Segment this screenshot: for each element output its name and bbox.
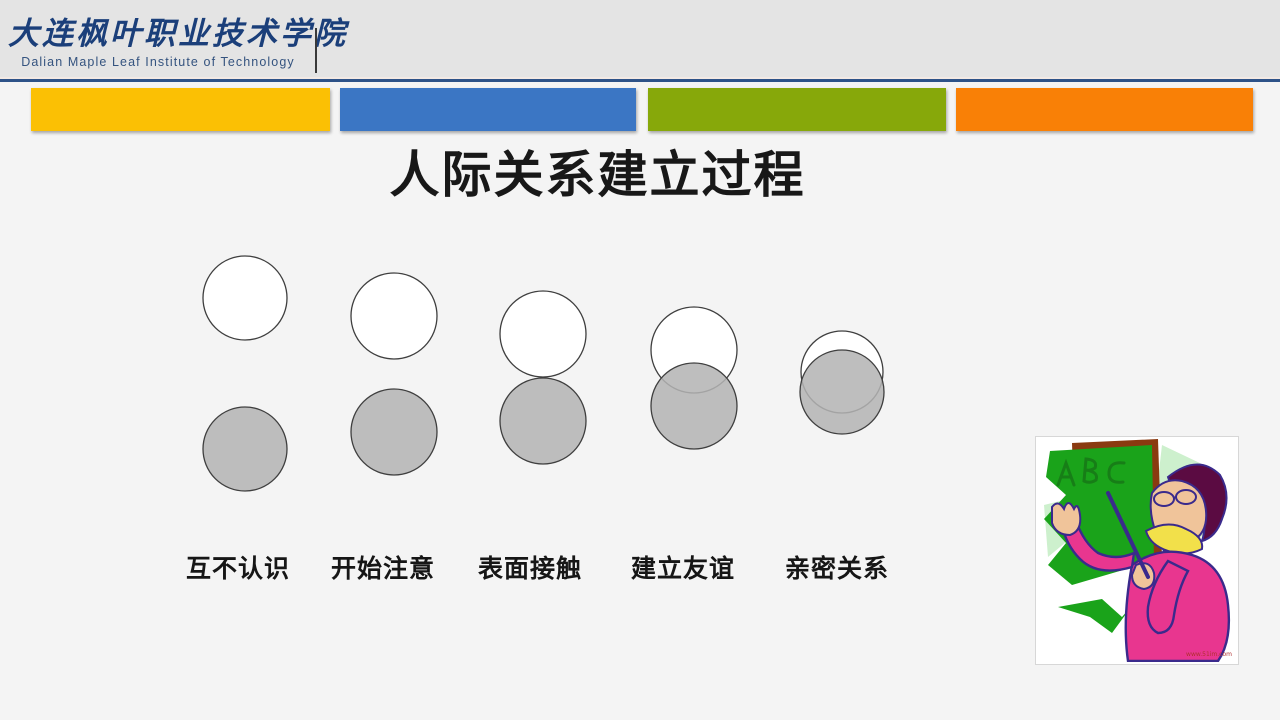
stage-4-top-circle bbox=[651, 307, 737, 393]
watermark-text: www.51im.com bbox=[1186, 651, 1232, 658]
stage-4-bottom-circle bbox=[651, 363, 737, 449]
stage-label-3: 表面接触 bbox=[455, 549, 605, 585]
left-hand bbox=[1052, 503, 1080, 535]
color-bar-yellow bbox=[31, 88, 330, 131]
stage-3-bottom-circle bbox=[500, 378, 586, 464]
color-bar-green bbox=[648, 88, 946, 131]
stage-2-top-circle bbox=[351, 273, 437, 359]
institution-logo: 大连枫叶职业技术学院 Dalian Maple Leaf Institute o… bbox=[8, 16, 308, 69]
stage-group-3 bbox=[500, 291, 586, 464]
slide-canvas: 大连枫叶职业技术学院 Dalian Maple Leaf Institute o… bbox=[0, 0, 1280, 720]
stage-1-bottom-circle bbox=[203, 407, 287, 491]
page-title: 人际关系建立过程 bbox=[0, 148, 1195, 203]
logo-english-name: Dalian Maple Leaf Institute of Technolog… bbox=[8, 55, 308, 69]
logo-chinese-name: 大连枫叶职业技术学院 bbox=[8, 16, 308, 52]
stage-label-1: 互不认识 bbox=[163, 549, 313, 585]
logo-divider bbox=[315, 28, 317, 73]
stage-5-bottom-circle bbox=[800, 350, 884, 434]
color-bar-blue bbox=[340, 88, 636, 131]
stage-group-2 bbox=[351, 273, 437, 475]
teacher-illustration: www.51im.com bbox=[1036, 437, 1236, 662]
stage-3-top-circle bbox=[500, 291, 586, 377]
stage-group-1 bbox=[203, 256, 287, 491]
stage-group-5 bbox=[800, 331, 884, 434]
stage-label-4: 建立友谊 bbox=[608, 549, 758, 585]
stage-5-top-circle bbox=[801, 331, 883, 413]
stage-2-bottom-circle bbox=[351, 389, 437, 475]
stage-1-top-circle bbox=[203, 256, 287, 340]
stage-group-4 bbox=[651, 307, 737, 449]
teacher-clipart: www.51im.com bbox=[1035, 436, 1239, 665]
color-bar-orange bbox=[956, 88, 1253, 131]
stage-label-2: 开始注意 bbox=[308, 549, 458, 585]
stage-label-5: 亲密关系 bbox=[762, 549, 912, 585]
